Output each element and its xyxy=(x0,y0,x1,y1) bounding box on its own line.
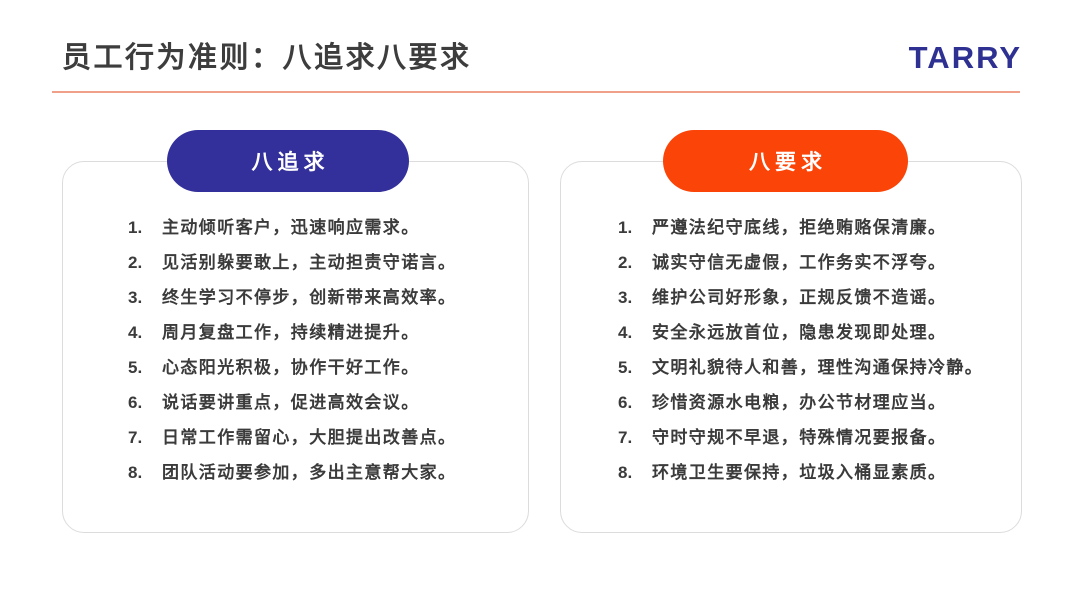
list-item: 1. 严遵法纪守底线，拒绝贿赂保清廉。 xyxy=(618,210,1028,245)
list-item: 5. 文明礼貌待人和善，理性沟通保持冷静。 xyxy=(618,350,1028,385)
list-item-number: 4. xyxy=(618,315,652,350)
list-item: 6. 珍惜资源水电粮，办公节材理应当。 xyxy=(618,385,1028,420)
list-item-text: 日常工作需留心，大胆提出改善点。 xyxy=(162,420,456,455)
list-item: 8. 环境卫生要保持，垃圾入桶显素质。 xyxy=(618,455,1028,490)
list-item-number: 7. xyxy=(128,420,162,455)
list-item-number: 6. xyxy=(618,385,652,420)
list-item-number: 8. xyxy=(618,455,652,490)
pill-header-left: 八追求 xyxy=(167,130,409,192)
list-item-text: 终生学习不停步，创新带来高效率。 xyxy=(162,280,456,315)
list-item: 6. 说话要讲重点，促进高效会议。 xyxy=(128,385,528,420)
list-item: 7. 守时守规不早退，特殊情况要报备。 xyxy=(618,420,1028,455)
list-item-text: 诚实守信无虚假，工作务实不浮夸。 xyxy=(652,245,946,280)
list-item-number: 5. xyxy=(618,350,652,385)
list-item-text: 环境卫生要保持，垃圾入桶显素质。 xyxy=(652,455,946,490)
list-item-number: 1. xyxy=(618,210,652,245)
list-right: 1. 严遵法纪守底线，拒绝贿赂保清廉。 2. 诚实守信无虚假，工作务实不浮夸。 … xyxy=(618,210,1028,490)
list-item-number: 8. xyxy=(128,455,162,490)
list-item-text: 珍惜资源水电粮，办公节材理应当。 xyxy=(652,385,946,420)
list-item: 4. 安全永远放首位，隐患发现即处理。 xyxy=(618,315,1028,350)
list-item-text: 主动倾听客户，迅速响应需求。 xyxy=(162,210,420,245)
list-item-number: 2. xyxy=(618,245,652,280)
list-item: 1. 主动倾听客户，迅速响应需求。 xyxy=(128,210,528,245)
list-item: 5. 心态阳光积极，协作干好工作。 xyxy=(128,350,528,385)
list-item: 4. 周月复盘工作，持续精进提升。 xyxy=(128,315,528,350)
list-item-text: 严遵法纪守底线，拒绝贿赂保清廉。 xyxy=(652,210,946,245)
list-item: 2. 见活别躲要敢上，主动担责守诺言。 xyxy=(128,245,528,280)
list-item: 3. 终生学习不停步，创新带来高效率。 xyxy=(128,280,528,315)
list-item-number: 1. xyxy=(128,210,162,245)
list-item-text: 周月复盘工作，持续精进提升。 xyxy=(162,315,420,350)
list-item-number: 3. xyxy=(618,280,652,315)
pill-header-right: 八要求 xyxy=(663,130,908,192)
list-item-number: 3. xyxy=(128,280,162,315)
list-item-text: 维护公司好形象，正规反馈不造谣。 xyxy=(652,280,946,315)
list-item: 7. 日常工作需留心，大胆提出改善点。 xyxy=(128,420,528,455)
list-item-text: 文明礼貌待人和善，理性沟通保持冷静。 xyxy=(652,350,983,385)
list-item-text: 团队活动要参加，多出主意帮大家。 xyxy=(162,455,456,490)
list-item-text: 守时守规不早退，特殊情况要报备。 xyxy=(652,420,946,455)
list-left: 1. 主动倾听客户，迅速响应需求。 2. 见活别躲要敢上，主动担责守诺言。 3.… xyxy=(128,210,528,490)
list-item: 8. 团队活动要参加，多出主意帮大家。 xyxy=(128,455,528,490)
list-item: 3. 维护公司好形象，正规反馈不造谣。 xyxy=(618,280,1028,315)
list-item-text: 安全永远放首位，隐患发现即处理。 xyxy=(652,315,946,350)
list-item-number: 5. xyxy=(128,350,162,385)
list-item-number: 2. xyxy=(128,245,162,280)
list-item-text: 心态阳光积极，协作干好工作。 xyxy=(162,350,420,385)
list-item-text: 见活别躲要敢上，主动担责守诺言。 xyxy=(162,245,456,280)
list-item-number: 7. xyxy=(618,420,652,455)
list-item-number: 6. xyxy=(128,385,162,420)
list-item-text: 说话要讲重点，促进高效会议。 xyxy=(162,385,420,420)
list-item: 2. 诚实守信无虚假，工作务实不浮夸。 xyxy=(618,245,1028,280)
list-item-number: 4. xyxy=(128,315,162,350)
content-area: 八追求 八要求 1. 主动倾听客户，迅速响应需求。 2. 见活别躲要敢上，主动担… xyxy=(0,0,1080,607)
